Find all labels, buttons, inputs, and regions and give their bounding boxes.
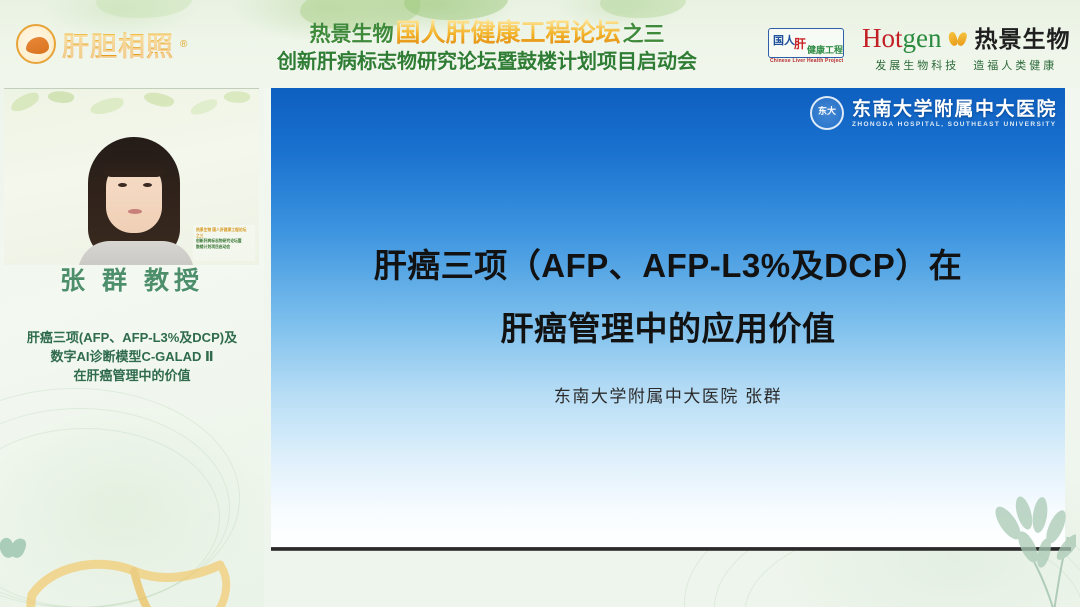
banner-title-line1: 热景生物国人肝健康工程论坛之三: [252, 20, 722, 48]
chinese-liver-health-project-logo: 国人 肝 健康工程 Chinese Liver Health Project: [768, 26, 848, 68]
hotgen-wordmark-hot: Hot: [862, 23, 903, 53]
video-leaf-decor: [223, 89, 251, 105]
banner-title: 热景生物国人肝健康工程论坛之三 创新肝病标志物研究论坛暨鼓楼计划项目启动会: [252, 20, 722, 75]
video-watermark-line4: 鼓楼计划项目启动会: [196, 244, 249, 249]
speaker-topic-line2: 数字AI诊断模型C-GALAD Ⅱ: [6, 347, 258, 366]
speaker-name: 张 群 教授: [0, 261, 264, 297]
video-watermark-line1: 热景生物 国人肝健康工程论坛: [196, 227, 249, 232]
video-leaf-decor: [9, 91, 42, 114]
slide-title-line1: 肝癌三项（AFP、AFP-L3%及DCP）在: [311, 234, 1025, 297]
speaker-topic-line3: 在肝癌管理中的价值: [6, 366, 258, 385]
clhp-emblem: 国人 肝 健康工程: [768, 28, 844, 58]
hospital-logo: 东南大学附属中大医院 ZHONGDA HOSPITAL, SOUTHEAST U…: [810, 96, 1057, 130]
video-leaf-decor: [89, 97, 125, 116]
leaf-sprig-decor-icon: [958, 493, 1076, 607]
banner-title-suffix: 之三: [623, 23, 665, 46]
slide-title-line2: 肝癌管理中的应用价值: [311, 297, 1025, 360]
hotgen-name-cn: 热景生物: [974, 20, 1070, 54]
banner-title-highlight: 国人肝健康工程论坛: [393, 19, 622, 47]
hospital-logo-text: 东南大学附属中大医院 ZHONGDA HOSPITAL, SOUTHEAST U…: [852, 99, 1057, 128]
slide-presenter: 东南大学附属中大医院 张群: [311, 382, 1025, 407]
mouth-shape: [128, 209, 142, 214]
speaker-topic-line1: 肝癌三项(AFP、AFP-L3%及DCP)及: [6, 328, 258, 347]
brand-logo-text: 肝胆相照: [62, 25, 174, 64]
speaker-portrait: [82, 137, 186, 265]
slide-title: 肝癌三项（AFP、AFP-L3%及DCP）在 肝癌管理中的应用价值: [311, 234, 1025, 360]
clhp-label-cn1: 国人: [773, 32, 795, 48]
hotgen-logo-row: Hotgen 热景生物: [862, 20, 1070, 54]
banner-leaf-decor: [96, 0, 192, 18]
video-leaf-decor: [143, 88, 176, 110]
hotgen-wordmark: Hotgen: [862, 23, 941, 54]
clhp-label-en: Chinese Liver Health Project: [770, 58, 843, 64]
video-watermark-line2: 之三: [196, 233, 249, 238]
slide-stage: 东南大学附属中大医院 ZHONGDA HOSPITAL, SOUTHEAST U…: [264, 88, 1080, 607]
eye-left: [118, 183, 127, 187]
slide-bottom-rule: [271, 547, 1071, 551]
event-banner: 肝胆相照 ® 热景生物国人肝健康工程论坛之三 创新肝病标志物研究论坛暨鼓楼计划项…: [0, 0, 1080, 88]
banner-subtitle: 创新肝病标志物研究论坛暨鼓楼计划项目启动会: [252, 49, 722, 75]
video-watermark-line3: 创新肝病标志物研究论坛暨: [196, 238, 249, 243]
presentation-slide[interactable]: 东南大学附属中大医院 ZHONGDA HOSPITAL, SOUTHEAST U…: [271, 88, 1065, 548]
banner-leaf-decor: [600, 0, 686, 18]
speaker-topic: 肝癌三项(AFP、AFP-L3%及DCP)及 数字AI诊断模型C-GALAD Ⅱ…: [6, 328, 258, 385]
butterfly-icon: [949, 32, 966, 47]
liver-icon: [16, 24, 56, 64]
video-leaf-decor: [47, 88, 75, 105]
hospital-name-cn: 东南大学附属中大医院: [852, 99, 1057, 120]
hospital-name-en: ZHONGDA HOSPITAL, SOUTHEAST UNIVERSITY: [852, 121, 1057, 128]
banner-title-prefix: 热景生物: [309, 23, 393, 46]
hotgen-logo: Hotgen 热景生物 发展生物科技 造福人类健康: [862, 20, 1070, 73]
clhp-label-cn2: 肝: [794, 35, 806, 52]
bangs-shape: [102, 151, 166, 177]
liver-outline-decor-icon: [22, 543, 237, 607]
hospital-seal-icon: [810, 96, 844, 130]
banner-leaf-decor: [404, 0, 508, 20]
eye-right: [143, 183, 152, 187]
gandanxiangzhao-logo: 肝胆相照 ®: [16, 24, 187, 64]
video-watermark: 热景生物 国人肝健康工程论坛 之三 创新肝病标志物研究论坛暨 鼓楼计划项目启动会: [193, 225, 255, 261]
video-leaf-decor: [189, 98, 219, 116]
hotgen-wordmark-gen: gen: [903, 23, 942, 53]
registered-mark: ®: [180, 39, 187, 50]
clhp-label-cn3: 健康工程: [807, 43, 843, 56]
speaker-video[interactable]: 热景生物 国人肝健康工程论坛 之三 创新肝病标志物研究论坛暨 鼓楼计划项目启动会: [4, 88, 259, 265]
speaker-sidebar: 热景生物 国人肝健康工程论坛 之三 创新肝病标志物研究论坛暨 鼓楼计划项目启动会…: [0, 88, 264, 607]
hotgen-tagline: 发展生物科技 造福人类健康: [862, 57, 1070, 73]
